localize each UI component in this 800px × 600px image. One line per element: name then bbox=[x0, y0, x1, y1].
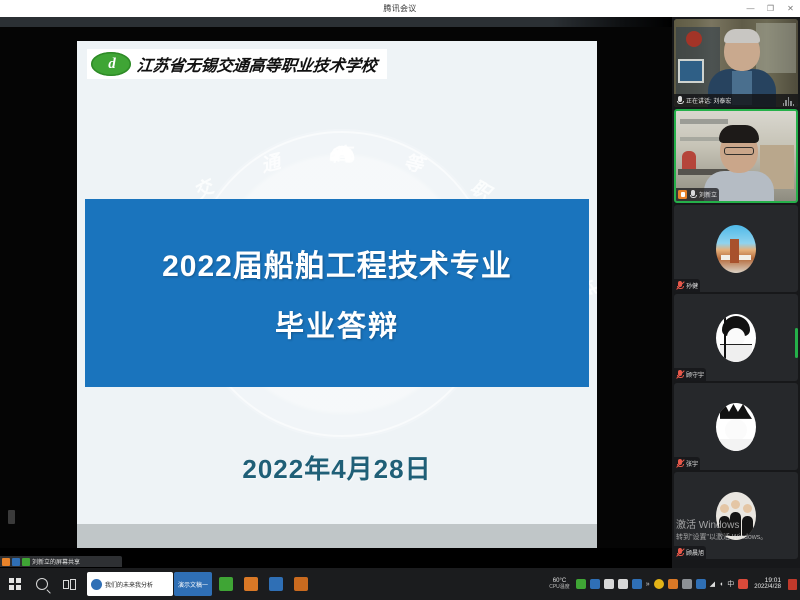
slide-bottom-bar bbox=[77, 524, 597, 548]
taskbar-app-teal[interactable] bbox=[290, 572, 312, 596]
share-app-icon bbox=[2, 558, 10, 566]
windows-logo-icon bbox=[9, 578, 21, 590]
tray-icon-cloud[interactable] bbox=[696, 579, 706, 589]
tencent-meeting-window: 腾讯会议 — ❐ ✕ 江苏省无锡交通高等职业技术学校 JIANGSU INSTI… bbox=[0, 0, 800, 600]
notification-center-icon[interactable] bbox=[788, 579, 797, 590]
participant-name: 孙健 bbox=[686, 281, 698, 290]
taskbar-presentation-chip[interactable]: 演示文稿一 bbox=[174, 572, 212, 596]
tray-icon-note[interactable] bbox=[632, 579, 642, 589]
tray-icon-meeting[interactable] bbox=[738, 579, 748, 589]
host-badge-icon bbox=[678, 190, 687, 199]
avatar bbox=[716, 314, 756, 362]
participant-label-bar: 张宇 bbox=[674, 457, 700, 470]
participant-tile[interactable]: 正在讲话: 刘泰宏 bbox=[674, 19, 798, 107]
share-top-strip-right bbox=[552, 17, 672, 27]
avatar bbox=[716, 403, 756, 451]
participant-rail[interactable]: 正在讲话: 刘泰宏刘新立孙健顾守宇张宇顾晨旭 bbox=[672, 17, 800, 568]
start-button[interactable] bbox=[2, 569, 28, 599]
audio-waveform-icon bbox=[783, 97, 795, 106]
participant-name: 顾守宇 bbox=[686, 370, 704, 379]
tray-icon-green[interactable] bbox=[576, 579, 586, 589]
school-logo-icon: d bbox=[91, 52, 131, 76]
taskbar-app-blue[interactable] bbox=[265, 572, 287, 596]
shared-screen-stage[interactable]: 江苏省无锡交通高等职业技术学校 JIANGSU INSTITUTE OF COM… bbox=[0, 17, 672, 548]
participant-tile[interactable]: 顾晨旭 bbox=[674, 472, 798, 559]
participant-tile[interactable]: 孙健 bbox=[674, 205, 798, 292]
search-button[interactable] bbox=[29, 569, 55, 599]
participant-tile[interactable]: 张宇 bbox=[674, 383, 798, 470]
taskbar-app-orange[interactable] bbox=[240, 572, 262, 596]
school-name-text: 江苏省无锡交通高等职业技术学校 bbox=[136, 52, 379, 76]
participant-label-bar: 孙健 bbox=[674, 279, 700, 292]
taskbar-app-green[interactable] bbox=[215, 572, 237, 596]
tray-overflow-icon[interactable]: » bbox=[646, 581, 650, 588]
mic-muted-icon bbox=[676, 370, 684, 380]
close-icon[interactable]: ✕ bbox=[785, 0, 796, 17]
windows-taskbar[interactable]: 我们的未来我分析 演示文稿一 60°C CPU温度 » ◢ ◖ bbox=[0, 568, 800, 600]
taskbar-clock[interactable]: 19:01 2022/4/28 bbox=[754, 577, 781, 591]
network-icon[interactable]: ◢ bbox=[710, 580, 715, 588]
tray-icon-shield[interactable] bbox=[654, 579, 664, 589]
clock-date: 2022/4/28 bbox=[754, 584, 781, 591]
cpu-temperature-widget[interactable]: 60°C CPU温度 bbox=[549, 578, 570, 590]
slide-title-line2: 毕业答辩 bbox=[275, 303, 399, 345]
participant-label-bar: 顾守宇 bbox=[674, 368, 706, 381]
slide-date-text: 2022年4月28日 bbox=[77, 449, 597, 486]
mic-muted-icon bbox=[676, 281, 684, 291]
minimize-icon[interactable]: — bbox=[745, 0, 756, 17]
slide-title-band: 2022届船舶工程技术专业 毕业答辩 bbox=[85, 199, 589, 387]
participant-name: 张宇 bbox=[686, 459, 698, 468]
share-user-icon bbox=[12, 558, 20, 566]
task-view-icon bbox=[63, 579, 76, 590]
clock-time: 19:01 bbox=[765, 577, 781, 584]
system-tray[interactable]: 60°C CPU温度 » ◢ ◖ 中 19:01 2022/4/28 bbox=[549, 568, 800, 600]
mic-muted-icon bbox=[676, 459, 684, 469]
avatar bbox=[716, 225, 756, 273]
tray-icon-blue[interactable] bbox=[590, 579, 600, 589]
taskbar-active-window-label: 我们的未来我分析 bbox=[105, 580, 153, 589]
ime-icon[interactable]: 中 bbox=[727, 579, 734, 589]
participant-name: 顾晨旭 bbox=[686, 548, 704, 557]
window-controls: — ❐ ✕ bbox=[745, 0, 796, 17]
share-banner-text: 刘新立的屏幕共享 bbox=[32, 557, 80, 566]
cpu-temperature-label: CPU温度 bbox=[549, 585, 570, 590]
participant-tile[interactable]: 顾守宇 bbox=[674, 294, 798, 381]
slide-title-line1: 2022届船舶工程技术专业 bbox=[162, 241, 512, 285]
participant-label-bar: 正在讲话: 刘泰宏 bbox=[674, 94, 798, 107]
task-view-button[interactable] bbox=[56, 569, 82, 599]
participant-label-bar: 刘新立 bbox=[676, 188, 719, 201]
slide-header-band: d 江苏省无锡交通高等职业技术学校 bbox=[87, 49, 387, 79]
screen-share-banner[interactable]: 刘新立的屏幕共享 bbox=[0, 556, 122, 567]
participant-tile[interactable]: 刘新立 bbox=[674, 109, 798, 203]
window-title: 腾讯会议 bbox=[383, 3, 416, 14]
taskbar-left-group: 我们的未来我分析 演示文稿一 bbox=[0, 569, 312, 599]
participant-label-bar: 顾晨旭 bbox=[674, 546, 706, 559]
volume-icon[interactable]: ◖ bbox=[719, 581, 723, 588]
mic-muted-icon bbox=[676, 548, 684, 558]
participant-name: 正在讲话: 刘泰宏 bbox=[686, 96, 731, 105]
tray-icon-display[interactable] bbox=[604, 579, 614, 589]
browser-icon bbox=[91, 579, 102, 590]
participant-name: 刘新立 bbox=[699, 190, 717, 199]
maximize-icon[interactable]: ❐ bbox=[765, 0, 776, 17]
search-icon bbox=[36, 578, 48, 590]
avatar bbox=[716, 492, 756, 540]
presentation-slide: 江苏省无锡交通高等职业技术学校 JIANGSU INSTITUTE OF COM… bbox=[77, 41, 597, 548]
share-mic-icon bbox=[22, 558, 30, 566]
taskbar-active-window[interactable]: 我们的未来我分析 bbox=[87, 572, 173, 596]
mic-icon bbox=[676, 96, 684, 106]
window-title-bar: 腾讯会议 — ❐ ✕ bbox=[0, 0, 800, 17]
tray-icon-updater[interactable] bbox=[668, 579, 678, 589]
tray-icon-mic[interactable] bbox=[618, 579, 628, 589]
mic-icon bbox=[689, 190, 697, 200]
shared-desktop: 江苏省无锡交通高等职业技术学校 JIANGSU INSTITUTE OF COM… bbox=[0, 27, 672, 548]
desktop-side-tab bbox=[8, 510, 15, 524]
tray-icon-music[interactable] bbox=[682, 579, 692, 589]
speaking-indicator bbox=[795, 328, 798, 358]
